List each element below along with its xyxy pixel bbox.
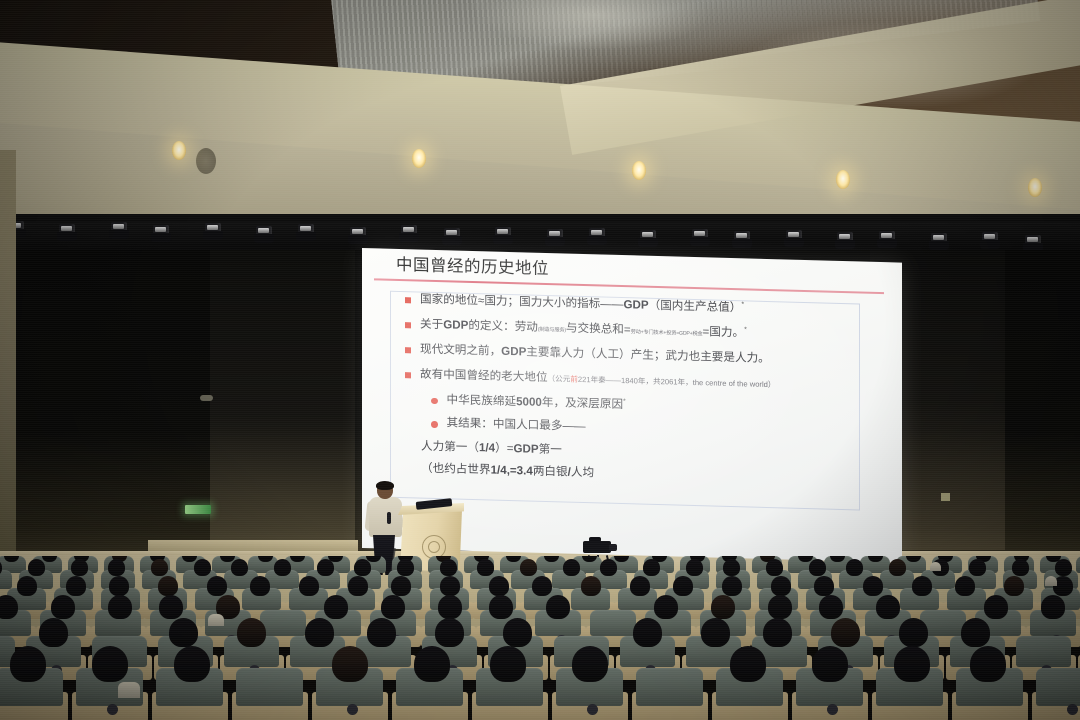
audience-head [506, 556, 521, 562]
audience-head [332, 646, 368, 682]
bullet-dot-icon [431, 398, 438, 405]
auditorium-photo: 中国曾经的历史地位 国家的地位≈国力；国力大小的指标——GDP（国内生产总值）*… [0, 0, 1080, 720]
seat-number-badge [1067, 704, 1078, 715]
audience-head [912, 576, 932, 596]
audience-head [151, 559, 168, 576]
audience-head [354, 559, 371, 576]
audience-head [863, 576, 883, 596]
slide-bullet-text: 故有中国曾经的老大地位（公元前221年秦——1840年，共2061年，the c… [420, 368, 775, 392]
microphone-icon [387, 512, 391, 524]
audience-head [532, 576, 552, 596]
audience-head [414, 646, 450, 682]
audience-head [768, 595, 792, 619]
audience-head [66, 576, 86, 596]
audience-head [1041, 595, 1065, 619]
audience-head [970, 646, 1006, 682]
audience-head [174, 646, 210, 682]
seat-number-badge [107, 704, 118, 715]
audience-head [899, 618, 928, 647]
camera-body [583, 541, 611, 553]
audience-shirt [118, 682, 140, 698]
exit-sign-icon [185, 505, 211, 514]
audience-head [51, 595, 75, 619]
audience-head [673, 576, 693, 596]
audience-head [906, 556, 921, 562]
audience-head [894, 646, 930, 682]
stage-light-icon [931, 233, 947, 248]
audience-head [643, 559, 660, 576]
audience-head [299, 576, 319, 596]
audience-head [71, 559, 88, 576]
bullet-dot-icon [431, 421, 438, 428]
audience-head [207, 576, 227, 596]
downlight-2 [412, 149, 426, 168]
stage-light-icon [153, 225, 169, 240]
slide-bullet-row: 现代文明之前，GDP主要靠人力（人工）产生；武力也主要是人力。 [391, 342, 859, 369]
audience-head [544, 556, 559, 562]
audience-head [969, 559, 986, 576]
stage-light-icon [59, 224, 75, 239]
ceiling-speaker-icon [196, 148, 216, 174]
audience-head [1012, 559, 1029, 576]
slide-bullet-text: 人力第一（1/4）=GDP第一 [421, 440, 562, 458]
auditorium-seat[interactable] [0, 570, 12, 589]
audience-head [440, 559, 457, 576]
audience-seating [0, 556, 1080, 720]
stage-light-icon [111, 222, 127, 237]
audience-head [763, 618, 792, 647]
stage-light-icon [982, 232, 998, 247]
audience-head [274, 559, 291, 576]
audience-shirt [208, 614, 224, 626]
slide-bullet-row: 故有中国曾经的老大地位（公元前221年秦——1840年，共2061年，the c… [391, 367, 859, 394]
seat-number-badge [827, 704, 838, 715]
audience-head [391, 576, 411, 596]
audience-head [250, 576, 270, 596]
stage-side-light-icon [941, 493, 950, 501]
bullet-square-icon [405, 297, 411, 303]
audience-head [42, 556, 57, 562]
audience-head [1004, 576, 1024, 596]
audience-head [572, 646, 608, 682]
audience-head [182, 556, 197, 562]
audience-head [868, 556, 883, 562]
bullet-square-icon [405, 322, 411, 328]
audience-head [1055, 559, 1072, 576]
slide-bullet-row: 关于GDP的定义：劳动(制造与服务)与交换总和=劳动+专门技术+投资=GDP+税… [391, 317, 859, 344]
audience-head [159, 595, 183, 619]
audience-head [730, 646, 766, 682]
bullet-square-icon [405, 347, 411, 353]
stage-light-icon [640, 230, 656, 245]
audience-head [563, 559, 580, 576]
stage-light-icon [1025, 235, 1041, 250]
downlight-5 [1028, 178, 1042, 197]
stage-light-icon [786, 230, 802, 245]
stage-light-icon [298, 224, 314, 239]
audience-head [766, 559, 783, 576]
audience-head [305, 618, 334, 647]
audience-head [830, 556, 845, 562]
audience-head [722, 576, 742, 596]
downlight-4 [836, 170, 850, 189]
audience-head [846, 559, 863, 576]
audience-head [324, 595, 348, 619]
audience-head [440, 576, 460, 596]
audience-head [600, 559, 617, 576]
audience-head [348, 576, 368, 596]
audience-head [711, 595, 735, 619]
stage-light-icon [734, 231, 750, 246]
presenter-torso [369, 497, 402, 537]
slide-bullet-text: 其结果：中国人口最多—— [447, 417, 586, 435]
audience-head [367, 618, 396, 647]
audience-head [290, 556, 305, 562]
presenter-hair [376, 481, 394, 490]
stage-light-icon [205, 223, 221, 238]
auditorium-seat[interactable] [260, 610, 306, 636]
slide-bullet-row: 其结果：中国人口最多—— [391, 415, 859, 442]
audience-head [10, 646, 46, 682]
seat-number-badge [347, 704, 358, 715]
slide-bullet-text: 国家的地位≈国力；国力大小的指标——GDP（国内生产总值）* [420, 293, 744, 316]
slide-title: 中国曾经的历史地位 [396, 251, 549, 279]
audience-head [889, 559, 906, 576]
audience-head [490, 646, 526, 682]
audience-head [701, 618, 730, 647]
stage-light-icon [837, 232, 853, 247]
audience-head [771, 576, 791, 596]
stage-light-icon [692, 229, 708, 244]
audience-head [4, 556, 19, 562]
audience-head [489, 576, 509, 596]
audience-head [630, 576, 650, 596]
auditorium-seat[interactable] [590, 610, 636, 636]
audience-head [723, 559, 740, 576]
slide-bullet-row: 国家的地位≈国力；国力大小的指标——GDP（国内生产总值）* [391, 292, 859, 319]
audience-head [520, 559, 537, 576]
stage-light-icon [879, 231, 895, 246]
audience-head [961, 618, 990, 647]
slide-bullet-row: （也约占世界1/4,=3.4两白银/人均 [391, 461, 859, 488]
audience-head [258, 556, 273, 562]
audience-head [831, 618, 860, 647]
audience-head [28, 559, 45, 576]
audience-head [814, 576, 834, 596]
audience-head [17, 576, 37, 596]
audience-head [237, 618, 266, 647]
stage-light-icon [495, 227, 511, 242]
audience-head [169, 618, 198, 647]
audience-head [109, 576, 129, 596]
audience-head [39, 618, 68, 647]
audience-head [489, 595, 513, 619]
stage-light-icon [350, 227, 366, 242]
slide-content-box: 国家的地位≈国力；国力大小的指标——GDP（国内生产总值）*关于GDP的定义：劳… [390, 291, 860, 511]
slide-bullet-text: 中华民族绵延5000年，及深层原因* [447, 393, 626, 412]
audience-head [438, 595, 462, 619]
audience-head [633, 618, 662, 647]
slide-bullet-list: 国家的地位≈国力；国力大小的指标——GDP（国内生产总值）*关于GDP的定义：劳… [391, 292, 859, 497]
audience-head [812, 646, 848, 682]
audience-head [0, 595, 18, 619]
stage-light-icon [547, 229, 563, 244]
auditorium-seat[interactable] [1016, 636, 1071, 667]
audience-head [158, 576, 178, 596]
audience-head [194, 559, 211, 576]
slide-bullet-text: 关于GDP的定义：劳动(制造与服务)与交换总和=劳动+专门技术+投资=GDP+税… [420, 318, 747, 341]
audience-head [503, 618, 532, 647]
audience-head [809, 559, 826, 576]
audience-head [108, 559, 125, 576]
audience-shirt [930, 562, 941, 571]
video-camera-icon [583, 537, 617, 557]
auditorium-seat[interactable] [236, 668, 303, 706]
side-wall-left [0, 150, 16, 580]
audience-head [317, 559, 334, 576]
audience-head [477, 559, 494, 576]
stage-light-icon [444, 228, 460, 243]
slide-bullet-text: 现代文明之前，GDP主要靠人力（人工）产生；武力也主要是人力。 [420, 343, 770, 367]
slide-bullet-row: 中华民族绵延5000年，及深层原因* [391, 392, 859, 419]
audience-head [92, 646, 128, 682]
audience-head [231, 559, 248, 576]
audience-head [614, 556, 629, 562]
camera-lens-icon [609, 544, 617, 551]
bullet-square-icon [405, 372, 411, 378]
audience-head [381, 595, 405, 619]
audience-head [108, 595, 132, 619]
seat-number-badge [587, 704, 598, 715]
auditorium-seat[interactable] [1036, 668, 1080, 706]
camera-viewfinder [589, 537, 601, 542]
downlight-3 [632, 161, 646, 180]
stage-light-icon [401, 225, 417, 240]
wall-lamp-icon [200, 395, 213, 401]
audience-head [581, 576, 601, 596]
audience-head [984, 595, 1008, 619]
stage-light-icon [589, 228, 605, 243]
audience-head [435, 618, 464, 647]
audience-head [546, 595, 570, 619]
audience-head [955, 576, 975, 596]
stage-light-icon [256, 226, 272, 241]
auditorium-seat[interactable] [1076, 556, 1080, 573]
downlight-1 [172, 141, 186, 160]
audience-head [819, 595, 843, 619]
audience-shirt [1045, 576, 1057, 586]
audience-head [397, 559, 414, 576]
audience-head [654, 595, 678, 619]
audience-head [876, 595, 900, 619]
auditorium-seat[interactable] [636, 668, 703, 706]
slide-bullet-text: （也约占世界1/4,=3.4两白银/人均 [421, 462, 594, 481]
audience-head [582, 556, 597, 562]
audience-head [686, 559, 703, 576]
